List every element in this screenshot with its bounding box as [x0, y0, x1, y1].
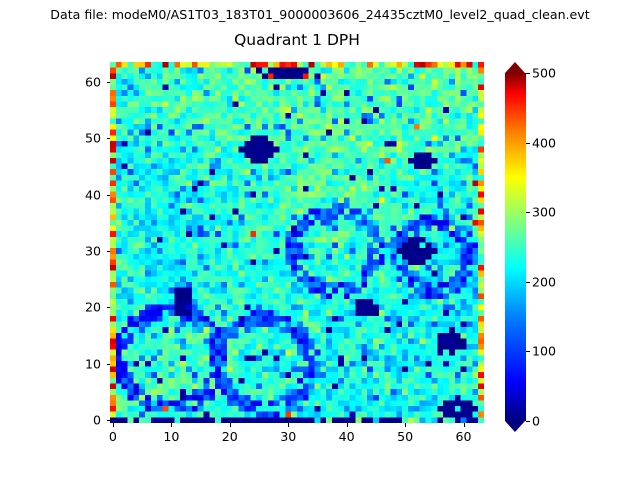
colorbar[interactable] [505, 62, 526, 432]
colorbar-extend-min-arrow-icon [505, 421, 525, 432]
y-tick-mark [107, 138, 111, 139]
colorbar-gradient-body [505, 73, 526, 421]
data-file-suptitle: Data file: modeM0/AS1T03_183T01_90000036… [0, 7, 640, 22]
x-tick-mark [347, 423, 348, 427]
heatmap-axes[interactable] [110, 62, 484, 423]
x-tick-label: 10 [163, 429, 179, 444]
y-tick-mark [107, 364, 111, 365]
colorbar-tick-label: 400 [532, 135, 556, 150]
x-tick-mark [171, 423, 172, 427]
colorbar-tick-mark [526, 282, 530, 283]
x-tick-mark [464, 423, 465, 427]
colorbar-tick-label: 300 [532, 205, 556, 220]
y-tick-label: 60 [85, 74, 101, 89]
matplotlib-figure: Data file: modeM0/AS1T03_183T01_90000036… [0, 0, 640, 480]
x-tick-label: 0 [109, 429, 117, 444]
y-tick-mark [107, 195, 111, 196]
x-tick-label: 60 [456, 429, 472, 444]
x-tick-mark [288, 423, 289, 427]
colorbar-tick-mark [526, 73, 530, 74]
y-tick-mark [107, 307, 111, 308]
y-tick-mark [107, 420, 111, 421]
y-tick-mark [107, 82, 111, 83]
x-tick-label: 50 [397, 429, 413, 444]
x-tick-label: 20 [222, 429, 238, 444]
y-tick-mark [107, 251, 111, 252]
colorbar-gradient [505, 73, 526, 421]
x-tick-label: 40 [339, 429, 355, 444]
y-tick-label: 10 [85, 356, 101, 371]
y-tick-label: 0 [93, 413, 101, 428]
y-tick-label: 50 [85, 131, 101, 146]
y-tick-label: 30 [85, 243, 101, 258]
dph-heatmap-image[interactable] [110, 62, 484, 423]
colorbar-tick-label: 500 [532, 66, 556, 81]
colorbar-tick-label: 100 [532, 344, 556, 359]
colorbar-tick-label: 200 [532, 274, 556, 289]
colorbar-tick-mark [526, 351, 530, 352]
x-tick-mark [405, 423, 406, 427]
x-tick-mark [113, 423, 114, 427]
page-title: Quadrant 1 DPH [110, 31, 484, 49]
colorbar-tick-mark [526, 421, 530, 422]
x-tick-label: 30 [280, 429, 296, 444]
y-tick-label: 20 [85, 300, 101, 315]
colorbar-tick-mark [526, 143, 530, 144]
colorbar-tick-label: 0 [532, 414, 540, 429]
y-tick-label: 40 [85, 187, 101, 202]
colorbar-tick-mark [526, 212, 530, 213]
colorbar-extend-max-arrow-icon [505, 62, 525, 73]
x-tick-mark [230, 423, 231, 427]
